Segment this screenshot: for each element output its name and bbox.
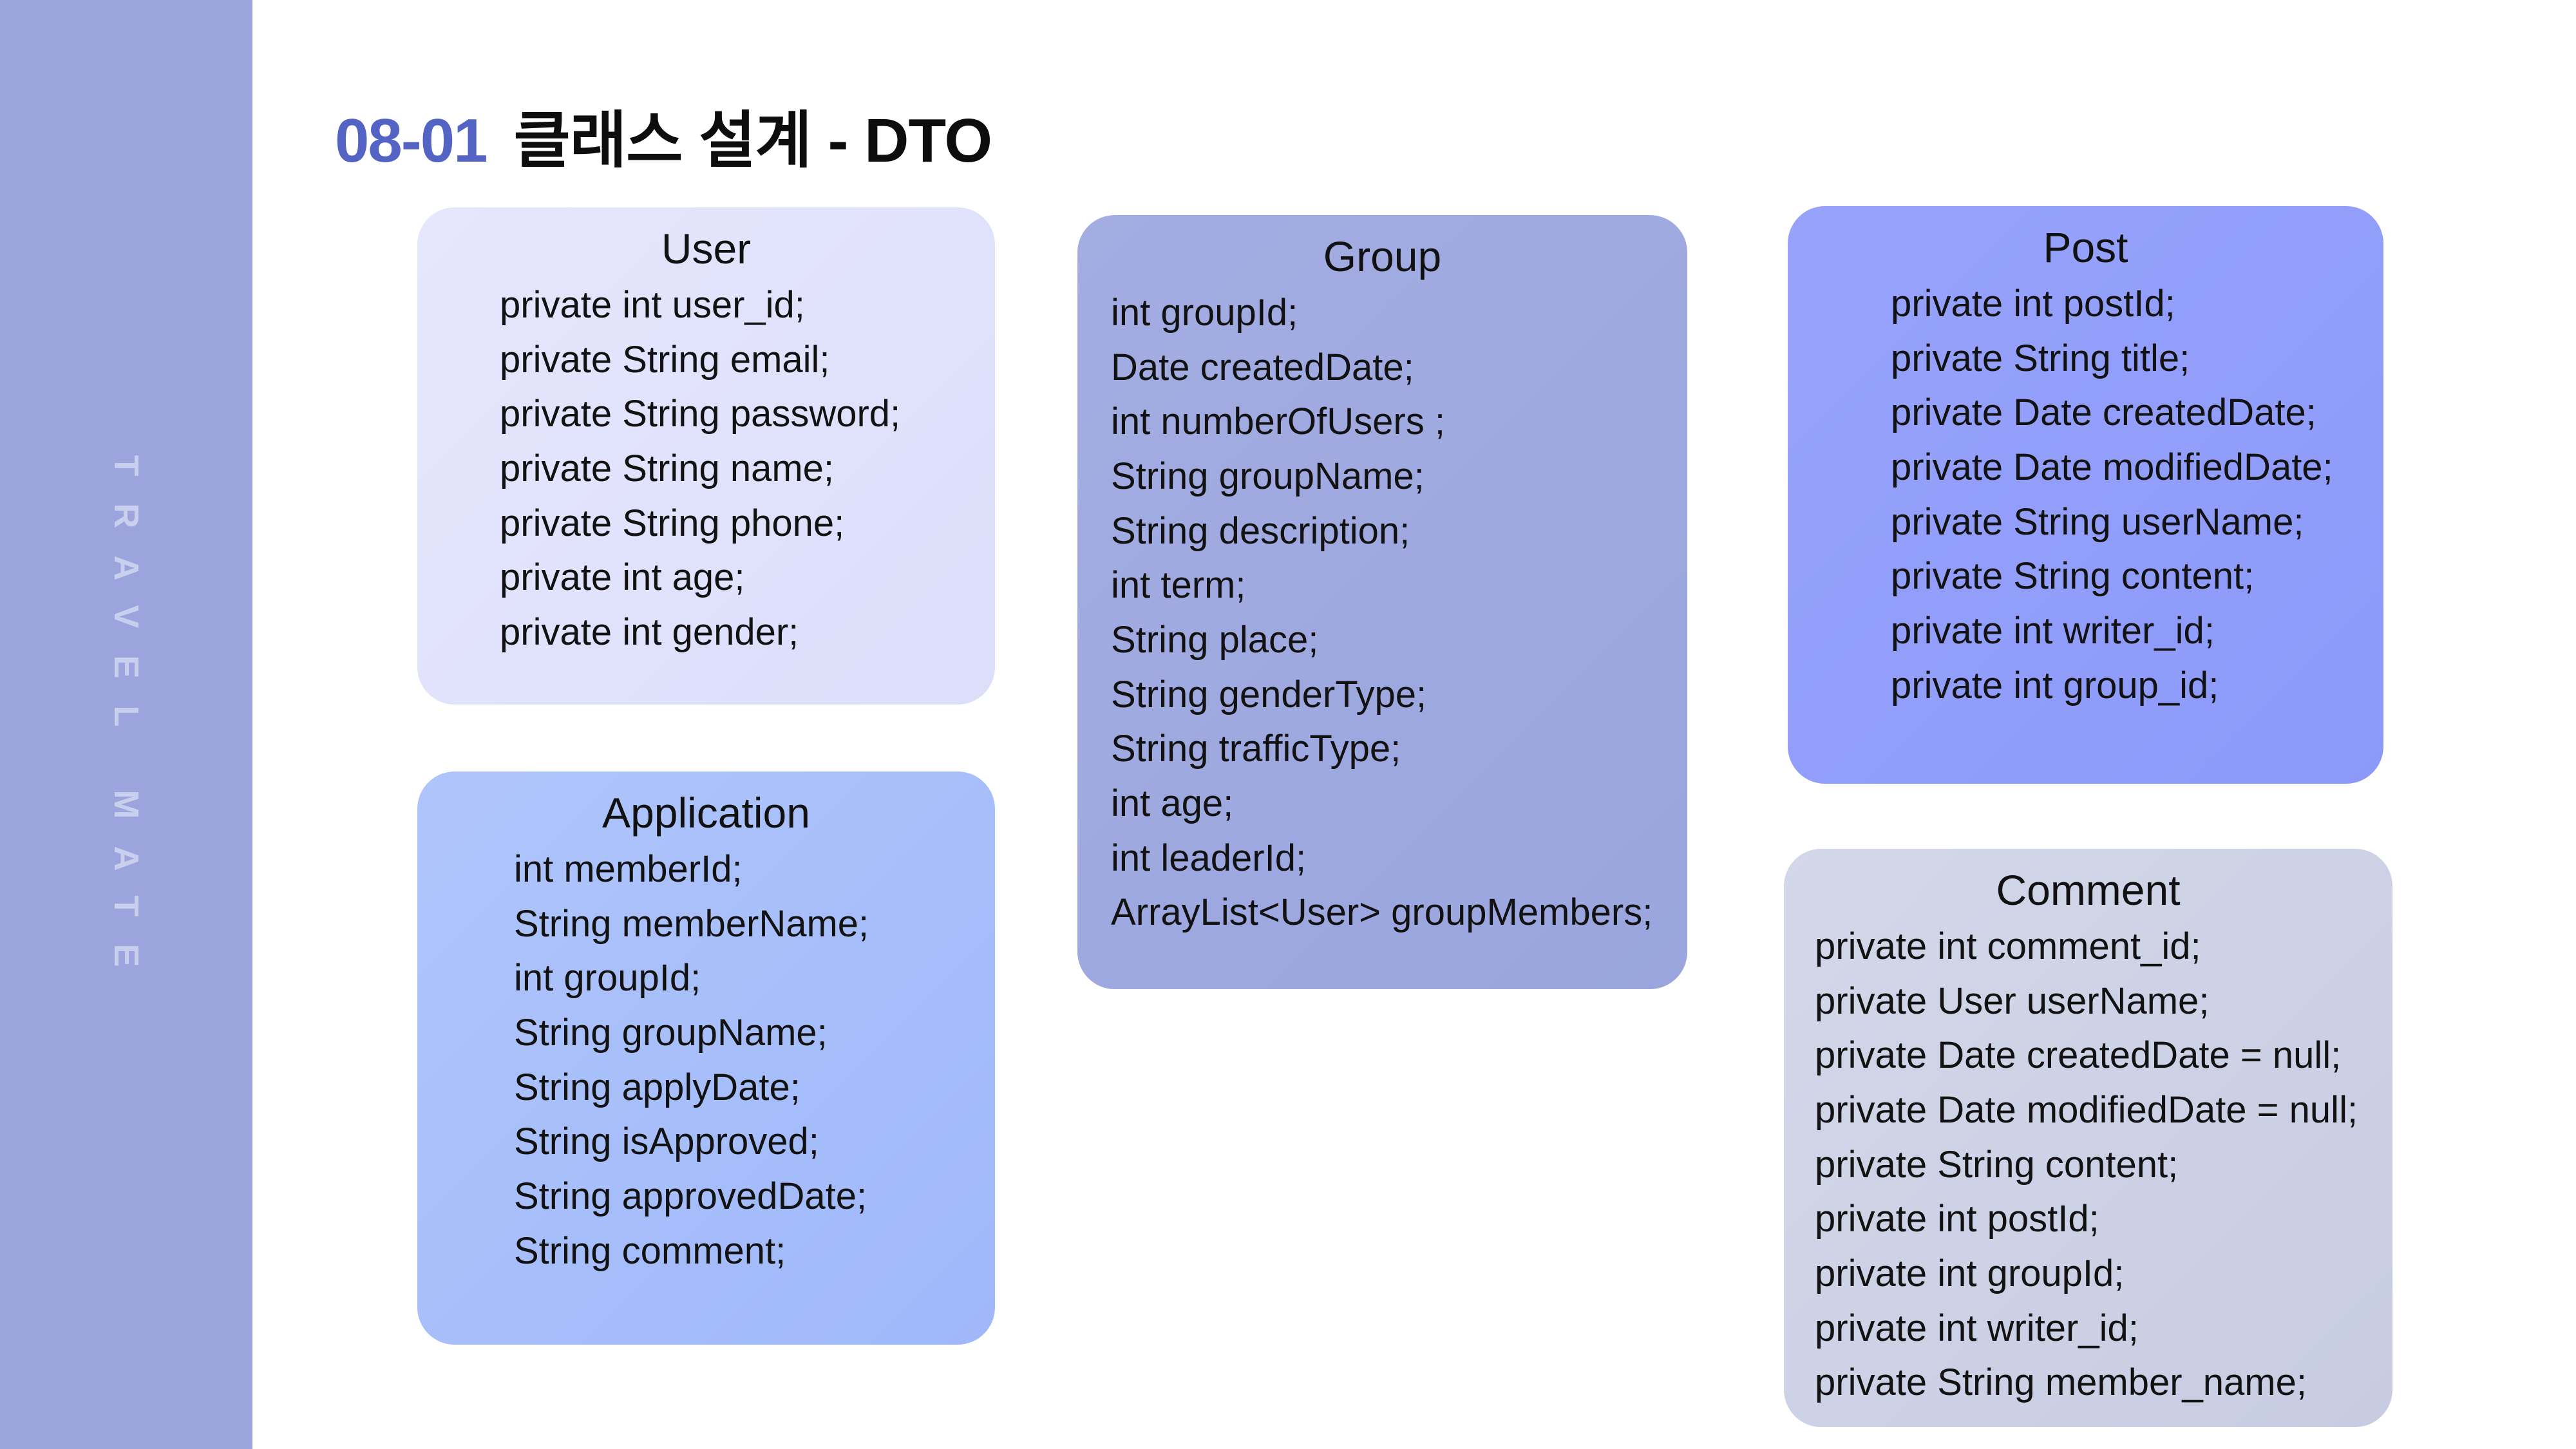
class-field: private int gender;: [500, 605, 995, 660]
class-card-post: Post private int postId;private String t…: [1788, 206, 2383, 784]
class-field: String description;: [1111, 504, 1687, 559]
class-field: int groupId;: [1111, 286, 1687, 341]
class-field: String trafficType;: [1111, 722, 1687, 777]
class-field: int memberId;: [514, 842, 995, 897]
class-field: private String content;: [1815, 1138, 2392, 1193]
class-field: private String title;: [1891, 332, 2383, 386]
class-field-list: private int comment_id;private User user…: [1784, 920, 2392, 1410]
class-field: private String name;: [500, 442, 995, 497]
class-card-title: Comment: [1784, 866, 2392, 916]
page-title: 08-01 클래스 설계 - DTO: [335, 90, 992, 180]
class-field: private int comment_id;: [1815, 920, 2392, 974]
class-card-title: Post: [1788, 223, 2383, 273]
class-card-title: User: [417, 224, 995, 274]
class-field: String genderType;: [1111, 668, 1687, 723]
class-field: private User userName;: [1815, 974, 2392, 1029]
class-field: private Date createdDate = null;: [1815, 1028, 2392, 1083]
slide-number: 08-01: [335, 106, 487, 176]
class-field: int groupId;: [514, 951, 995, 1006]
class-field: private int age;: [500, 551, 995, 605]
class-field: private int group_id;: [1891, 659, 2383, 714]
class-field: private int user_id;: [500, 278, 995, 333]
class-card-comment: Comment private int comment_id;private U…: [1784, 849, 2392, 1427]
class-field: private Date modifiedDate;: [1891, 440, 2383, 495]
class-card-title: Application: [417, 788, 995, 838]
class-field: private int postId;: [1891, 277, 2383, 332]
class-field: String applyDate;: [514, 1061, 995, 1115]
class-field: private int writer_id;: [1815, 1302, 2392, 1356]
class-field: private String content;: [1891, 549, 2383, 604]
brand-sidebar: TRAVEL MATE: [0, 0, 252, 1449]
class-field: String memberName;: [514, 897, 995, 952]
class-field: String comment;: [514, 1224, 995, 1279]
class-field: int term;: [1111, 558, 1687, 613]
class-field: private String member_name;: [1815, 1356, 2392, 1410]
brand-vertical-label: TRAVEL MATE: [106, 455, 146, 994]
class-field: String groupName;: [514, 1006, 995, 1061]
class-field: private Date modifiedDate = null;: [1815, 1083, 2392, 1138]
class-field: private String phone;: [500, 497, 995, 551]
class-field: Date createdDate;: [1111, 341, 1687, 395]
class-field-list: int groupId;Date createdDate;int numberO…: [1077, 286, 1687, 940]
class-field: private String email;: [500, 333, 995, 388]
class-field: private String password;: [500, 387, 995, 442]
class-card-user: User private int user_id;private String …: [417, 207, 995, 705]
class-field: String isApproved;: [514, 1115, 995, 1170]
slide-title-text: 클래스 설계 - DTO: [514, 90, 992, 180]
class-field: int leaderId;: [1111, 831, 1687, 886]
class-field: int age;: [1111, 777, 1687, 831]
class-field: private Date createdDate;: [1891, 386, 2383, 440]
class-field-list: private int postId;private String title;…: [1788, 277, 2383, 713]
class-field: private int writer_id;: [1891, 604, 2383, 659]
class-field: String place;: [1111, 613, 1687, 668]
class-field: private String userName;: [1891, 495, 2383, 550]
class-field: String groupName;: [1111, 450, 1687, 504]
class-field-list: int memberId;String memberName;int group…: [417, 842, 995, 1278]
class-field: int numberOfUsers ;: [1111, 395, 1687, 450]
class-card-application: Application int memberId;String memberNa…: [417, 772, 995, 1345]
class-card-title: Group: [1077, 232, 1687, 282]
class-field: private int groupId;: [1815, 1247, 2392, 1302]
class-field: private int postId;: [1815, 1192, 2392, 1247]
class-field: String approvedDate;: [514, 1170, 995, 1224]
class-field: ArrayList<User> groupMembers;: [1111, 885, 1687, 940]
class-field-list: private int user_id;private String email…: [417, 278, 995, 660]
class-card-group: Group int groupId;Date createdDate;int n…: [1077, 215, 1687, 989]
